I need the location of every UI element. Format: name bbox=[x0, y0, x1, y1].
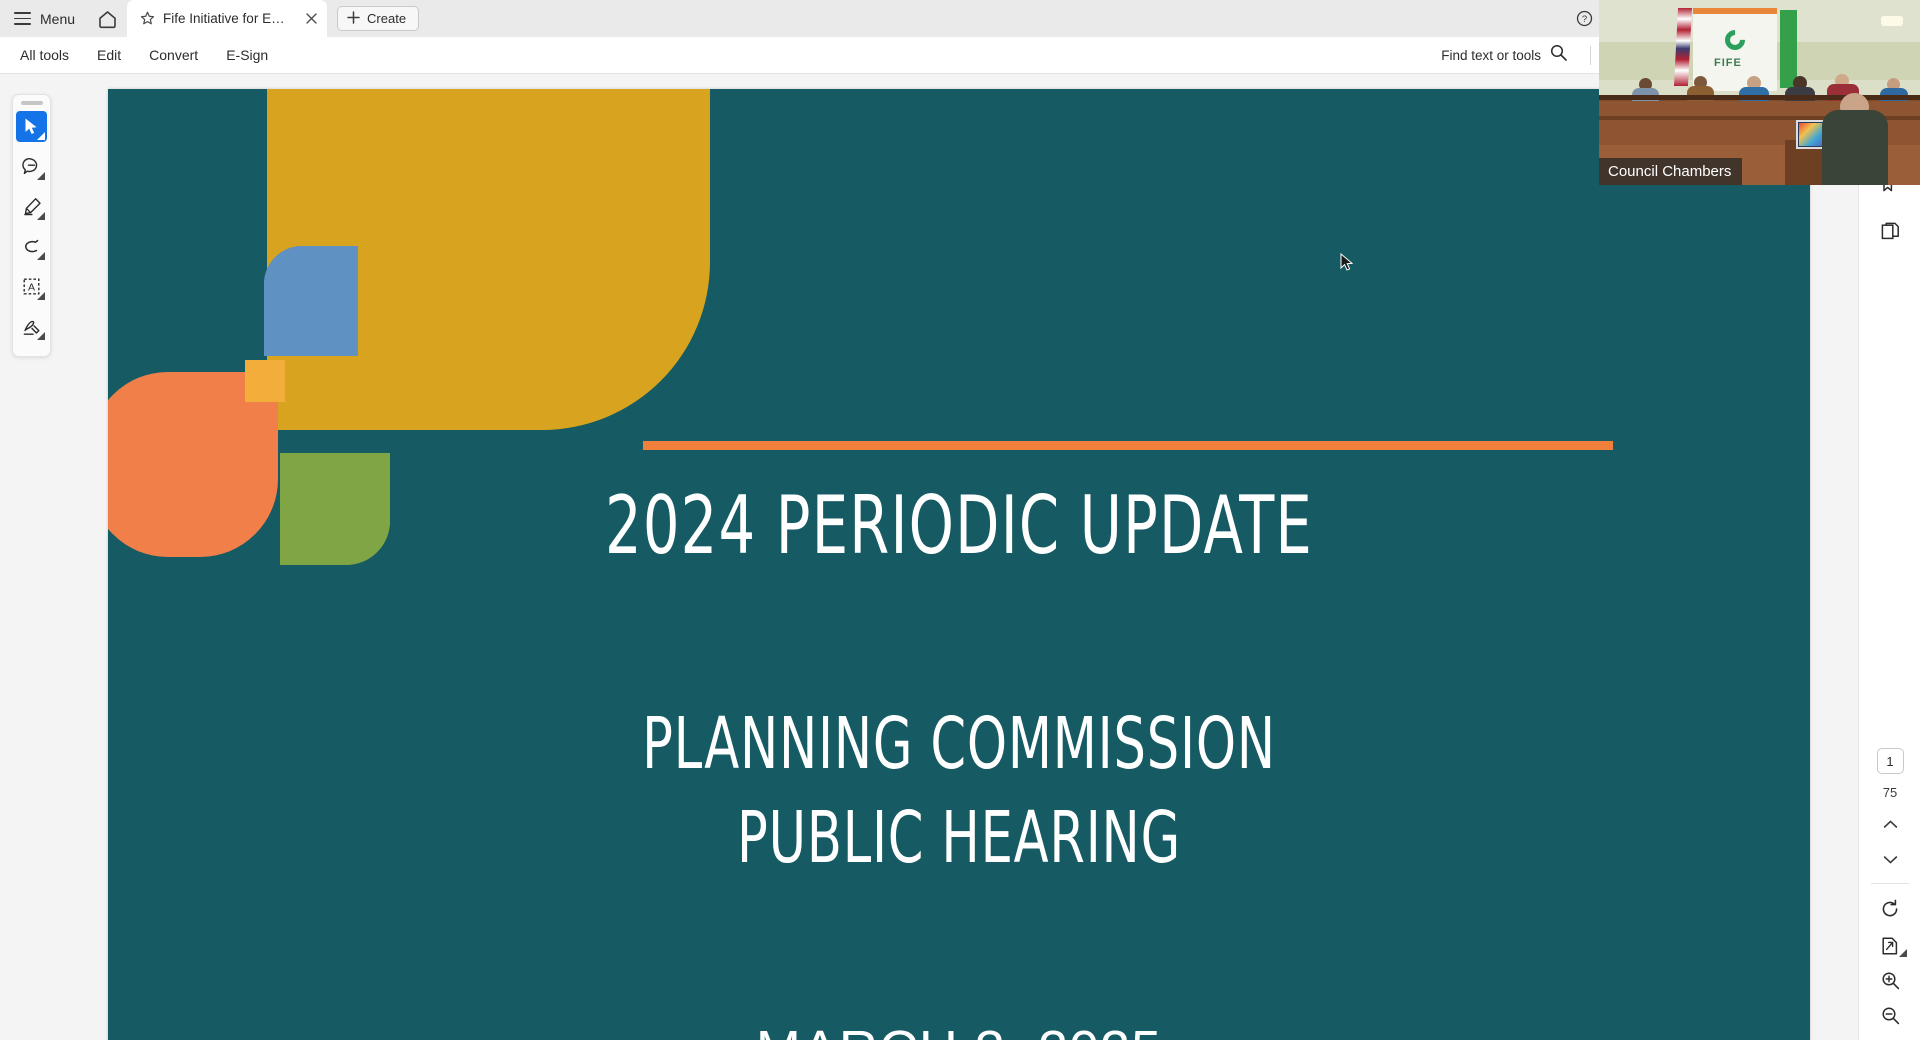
title-accent-bar bbox=[643, 441, 1613, 450]
chevron-down-icon[interactable] bbox=[1899, 949, 1907, 957]
rail-drag-handle[interactable] bbox=[21, 101, 43, 105]
find-label: Find text or tools bbox=[1441, 48, 1541, 63]
decor-shape-amber bbox=[245, 360, 285, 402]
slide-title: 2024 PERIODIC UPDATE bbox=[278, 479, 1640, 572]
rotate-clockwise-icon bbox=[1880, 899, 1900, 919]
menu-button-label: Menu bbox=[40, 11, 75, 27]
document-tab[interactable]: Fife Initiative for Excelle… bbox=[127, 0, 327, 37]
right-rail-divider bbox=[1871, 883, 1909, 884]
chevron-down-icon[interactable] bbox=[37, 292, 45, 300]
chevron-up-icon bbox=[1883, 819, 1898, 830]
video-ceiling-light bbox=[1881, 16, 1903, 26]
page-thumbnails-icon[interactable] bbox=[1875, 216, 1905, 246]
close-icon[interactable] bbox=[301, 9, 321, 29]
highlight-tool-button[interactable] bbox=[16, 191, 47, 222]
previous-page-button[interactable] bbox=[1872, 810, 1908, 839]
chevron-down-icon bbox=[1883, 854, 1898, 865]
toolbar-menu-group: All tools Edit Convert E-Sign bbox=[0, 37, 282, 74]
chevron-down-icon[interactable] bbox=[37, 332, 45, 340]
tab-bar-left: Menu Fife Initiative for Excelle… bbox=[0, 0, 419, 37]
document-tab-title: Fife Initiative for Excelle… bbox=[163, 11, 291, 26]
toolbar-item-all-tools[interactable]: All tools bbox=[6, 37, 83, 74]
video-fife-logo-icon bbox=[1721, 26, 1749, 54]
video-dais-top bbox=[1599, 95, 1920, 100]
svg-text:A: A bbox=[28, 282, 35, 294]
home-button[interactable] bbox=[87, 0, 127, 37]
comment-tool-button[interactable] bbox=[16, 151, 47, 182]
search-icon[interactable] bbox=[1550, 44, 1567, 66]
zoom-in-button[interactable] bbox=[1872, 966, 1908, 995]
next-page-button[interactable] bbox=[1872, 845, 1908, 874]
chevron-down-icon[interactable] bbox=[37, 212, 45, 220]
create-button[interactable]: Create bbox=[337, 6, 419, 31]
svg-text:?: ? bbox=[1581, 14, 1586, 25]
document-viewport[interactable]: 2024 PERIODIC UPDATE PLANNING COMMISSION… bbox=[0, 74, 1858, 1040]
toolbar-item-esign[interactable]: E-Sign bbox=[212, 37, 282, 74]
star-icon[interactable] bbox=[140, 11, 155, 26]
video-state-flag bbox=[1780, 10, 1797, 88]
plus-icon bbox=[347, 11, 360, 27]
mouse-cursor bbox=[1340, 253, 1354, 273]
video-speaker-body bbox=[1822, 110, 1888, 185]
sign-tool-button[interactable] bbox=[16, 311, 47, 342]
rotate-page-button[interactable] bbox=[1872, 894, 1908, 923]
decor-shape-blue bbox=[264, 246, 358, 356]
left-tool-rail: A bbox=[12, 94, 51, 357]
menu-button[interactable]: Menu bbox=[0, 0, 87, 37]
chevron-down-icon[interactable] bbox=[37, 252, 45, 260]
create-button-label: Create bbox=[367, 11, 406, 26]
page-navigation-group: 1 75 bbox=[1859, 748, 1920, 1030]
chevron-down-icon[interactable] bbox=[37, 172, 45, 180]
home-icon bbox=[97, 9, 118, 29]
pdf-page-1: 2024 PERIODIC UPDATE PLANNING COMMISSION… bbox=[108, 89, 1810, 1040]
draw-tool-button[interactable] bbox=[16, 231, 47, 262]
toolbar-item-convert[interactable]: Convert bbox=[135, 37, 212, 74]
video-banner-stripe bbox=[1693, 8, 1777, 14]
page-total-label: 75 bbox=[1883, 785, 1897, 800]
help-circle-icon[interactable]: ? bbox=[1570, 5, 1598, 33]
zoom-out-button[interactable] bbox=[1872, 1001, 1908, 1030]
find-text-or-tools[interactable]: Find text or tools bbox=[1431, 44, 1577, 66]
toolbar-divider bbox=[1590, 46, 1591, 65]
zoom-out-icon bbox=[1881, 1006, 1900, 1025]
video-overlay-council-chambers[interactable]: FIFE Council Chambers bbox=[1599, 0, 1920, 185]
slide-date: MARCH 3, 2025 bbox=[108, 1019, 1810, 1040]
hamburger-icon bbox=[14, 12, 31, 25]
video-overlay-label: Council Chambers bbox=[1599, 158, 1742, 185]
page-number-input[interactable]: 1 bbox=[1877, 748, 1904, 774]
acrobat-window: Menu Fife Initiative for Excelle… bbox=[0, 0, 1920, 1040]
text-select-tool-button[interactable]: A bbox=[16, 271, 47, 302]
fit-page-icon bbox=[1880, 936, 1900, 956]
chevron-down-icon[interactable] bbox=[37, 132, 45, 140]
zoom-in-icon bbox=[1881, 971, 1900, 990]
video-fife-logo-text: FIFE bbox=[1714, 57, 1742, 69]
toolbar-item-edit[interactable]: Edit bbox=[83, 37, 135, 74]
right-tool-rail: 1 75 bbox=[1858, 74, 1920, 1040]
select-tool-button[interactable] bbox=[16, 111, 47, 142]
slide-subtitle: PLANNING COMMISSION PUBLIC HEARING bbox=[278, 697, 1640, 886]
fit-page-button[interactable] bbox=[1872, 931, 1908, 960]
